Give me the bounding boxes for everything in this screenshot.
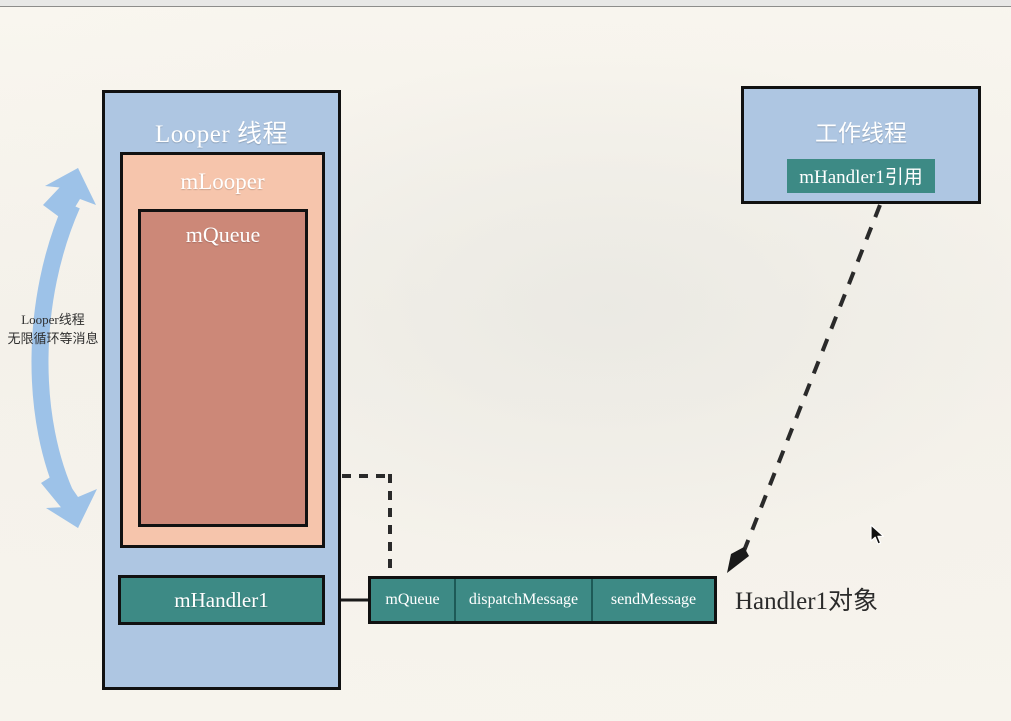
method-cell-mqueue[interactable]: mQueue bbox=[371, 579, 456, 621]
mhandler1-box[interactable]: mHandler1 bbox=[118, 575, 325, 625]
dashed-arrow-icon bbox=[727, 205, 880, 573]
method-cell-dispatchmessage[interactable]: dispatchMessage bbox=[456, 579, 593, 621]
loop-annotation-line-1: Looper线程 bbox=[3, 311, 103, 330]
mlooper-label: mLooper bbox=[180, 169, 264, 195]
worker-thread-box[interactable]: 工作线程 mHandler1引用 bbox=[741, 86, 981, 204]
mqueue-box[interactable]: mQueue bbox=[138, 209, 308, 527]
mouse-pointer-icon bbox=[870, 524, 886, 546]
looper-thread-label: Looper 线程 bbox=[155, 114, 288, 150]
loop-annotation-line-2: 无限循环等消息 bbox=[3, 330, 103, 349]
window-top-strip bbox=[0, 0, 1011, 7]
loop-annotation: Looper线程 无限循环等消息 bbox=[3, 311, 103, 349]
mhandler1-reference-chip[interactable]: mHandler1引用 bbox=[787, 159, 934, 193]
mqueue-label: mQueue bbox=[186, 222, 261, 248]
method-cell-sendmessage[interactable]: sendMessage bbox=[593, 579, 714, 621]
handler-method-strip: mQueue dispatchMessage sendMessage bbox=[368, 576, 717, 624]
handler1-object-caption: Handler1对象 bbox=[735, 581, 878, 617]
diagram-canvas: Looper 线程 mLooper mQueue mHandler1 mQueu… bbox=[0, 0, 1011, 721]
mhandler1-label: mHandler1 bbox=[174, 588, 268, 613]
worker-thread-label: 工作线程 bbox=[815, 114, 907, 148]
